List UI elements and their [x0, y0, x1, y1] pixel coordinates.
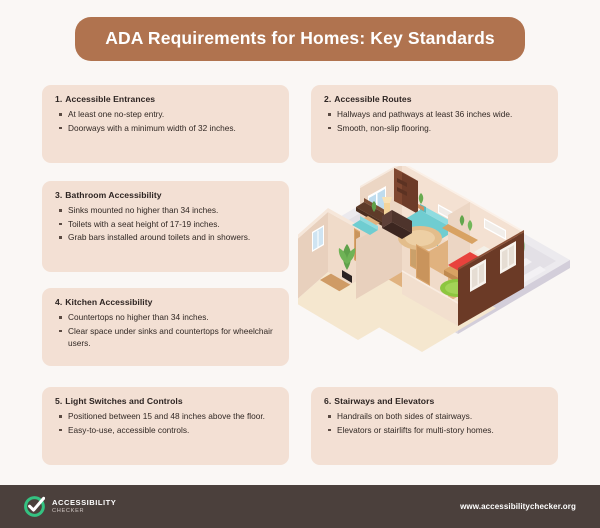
- card-bullet-list: Handrails on both sides of stairways. El…: [324, 410, 546, 436]
- card-title: 4.Kitchen Accessibility: [55, 297, 277, 307]
- card-number: 2.: [324, 94, 331, 104]
- card-heading-text: Bathroom Accessibility: [65, 190, 161, 200]
- card-heading-text: Accessible Routes: [334, 94, 411, 104]
- brand-name: ACCESSIBILITY: [52, 499, 116, 507]
- front-brown-wall: [458, 230, 524, 326]
- list-item: Countertops no higher than 34 inches.: [55, 311, 277, 323]
- house-main-body: [328, 208, 496, 352]
- card-title: 1.Accessible Entrances: [55, 94, 277, 104]
- list-item: Toilets with a seat height of 17-19 inch…: [55, 218, 277, 230]
- card-kitchen-accessibility: 4.Kitchen Accessibility Countertops no h…: [42, 288, 289, 366]
- card-title: 6.Stairways and Elevators: [324, 396, 546, 406]
- card-number: 3.: [55, 190, 62, 200]
- list-item: Positioned between 15 and 48 inches abov…: [55, 410, 277, 422]
- hallway-decor: [368, 265, 382, 290]
- wall-shelf: [442, 215, 478, 244]
- list-item: Clear space under sinks and countertops …: [55, 325, 277, 349]
- window-front-left: [470, 259, 486, 292]
- window-front-right: [500, 241, 516, 274]
- house-base-platform: [304, 172, 570, 334]
- nightstand: [498, 250, 516, 268]
- card-bullet-list: Hallways and pathways at least 36 inches…: [324, 108, 546, 134]
- card-title: 2.Accessible Routes: [324, 94, 546, 104]
- plant-bedroom: [512, 232, 525, 273]
- circle-check-icon: [24, 496, 45, 517]
- sofa-teal: [402, 204, 456, 246]
- chair-teal: [352, 216, 378, 235]
- header: ADA Requirements for Homes: Key Standard…: [0, 0, 600, 78]
- house-left-wing: [298, 208, 402, 340]
- list-item: Easy-to-use, accessible controls.: [55, 424, 277, 436]
- card-accessible-routes: 2.Accessible Routes Hallways and pathway…: [311, 85, 558, 163]
- footer-url[interactable]: www.accessibilitychecker.org: [460, 502, 576, 511]
- door-side: [386, 270, 400, 312]
- bedroom: [416, 200, 525, 299]
- brand-subtitle: CHECKER: [52, 509, 116, 515]
- card-bullet-list: At least one no-step entry. Doorways wit…: [55, 108, 277, 134]
- card-number: 6.: [324, 396, 331, 406]
- card-heading-text: Light Switches and Controls: [65, 396, 182, 406]
- card-number: 4.: [55, 297, 62, 307]
- brand-text: ACCESSIBILITY CHECKER: [52, 499, 116, 515]
- front-left-wall: [328, 252, 458, 340]
- wardrobe: [416, 244, 430, 286]
- tv-stand: [382, 210, 412, 239]
- card-heading-text: Accessible Entrances: [65, 94, 155, 104]
- card-title: 5.Light Switches and Controls: [55, 396, 277, 406]
- list-item: Hallways and pathways at least 36 inches…: [324, 108, 546, 120]
- card-accessible-entrances: 1.Accessible Entrances At least one no-s…: [42, 85, 289, 163]
- list-item: Grab bars installed around toilets and i…: [55, 231, 277, 243]
- bed: [444, 246, 512, 299]
- window-living-left: [368, 186, 386, 220]
- card-number: 1.: [55, 94, 62, 104]
- page-title: ADA Requirements for Homes: Key Standard…: [75, 17, 525, 62]
- card-bathroom-accessibility: 3.Bathroom Accessibility Sinks mounted n…: [42, 181, 289, 272]
- tall-cabinet: [394, 168, 418, 214]
- card-number: 5.: [55, 396, 62, 406]
- sideboard: [356, 198, 392, 227]
- window-bedroom: [484, 218, 506, 240]
- card-stairways-and-elevators: 6.Stairways and Elevators Handrails on b…: [311, 387, 558, 465]
- living-room: [352, 166, 470, 254]
- plant-living: [418, 193, 424, 211]
- list-item: At least one no-step entry.: [55, 108, 277, 120]
- potted-plant-hallway: [339, 244, 355, 283]
- card-title: 3.Bathroom Accessibility: [55, 190, 277, 200]
- footer-bar: ACCESSIBILITY CHECKER www.accessibilityc…: [0, 485, 600, 528]
- card-light-switches-and-controls: 5.Light Switches and Controls Positioned…: [42, 387, 289, 465]
- list-item: Elevators or stairlifts for multi-story …: [324, 424, 546, 436]
- list-item: Sinks mounted no higher than 34 inches.: [55, 204, 277, 216]
- card-bullet-list: Countertops no higher than 34 inches. Cl…: [55, 311, 277, 349]
- card-heading-text: Kitchen Accessibility: [65, 297, 152, 307]
- desk-plant: [364, 201, 380, 225]
- list-item: Smooth, non-slip flooring.: [324, 122, 546, 134]
- list-item: Handrails on both sides of stairways.: [324, 410, 546, 422]
- floor-lamp: [382, 197, 392, 222]
- list-item: Doorways with a minimum width of 32 inch…: [55, 122, 277, 134]
- door-hallway: [354, 228, 368, 268]
- card-heading-text: Stairways and Elevators: [334, 396, 434, 406]
- card-bullet-list: Positioned between 15 and 48 inches abov…: [55, 410, 277, 436]
- window-left-wall: [312, 225, 324, 252]
- isometric-house-illustration: [298, 166, 590, 380]
- card-bullet-list: Sinks mounted no higher than 34 inches. …: [55, 204, 277, 243]
- window-living-right: [438, 204, 458, 224]
- door-center: [410, 232, 424, 274]
- brand-lockup[interactable]: ACCESSIBILITY CHECKER: [24, 496, 116, 517]
